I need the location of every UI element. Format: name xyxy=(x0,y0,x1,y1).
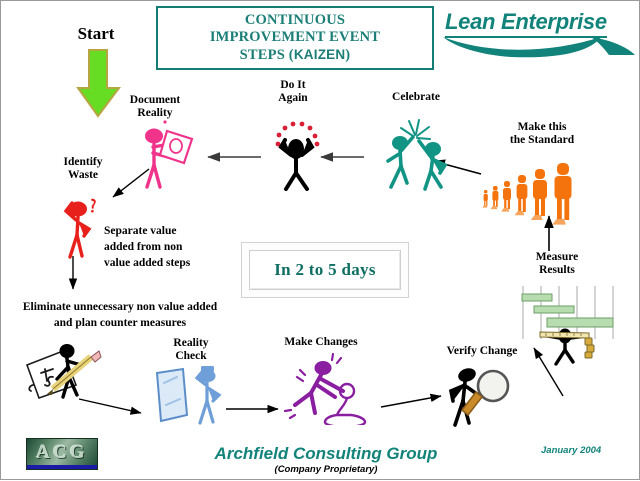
footer-company-name: Archfield Consulting Group xyxy=(171,444,481,464)
figure-person-holding-document xyxy=(137,119,199,191)
label-line-2: Again xyxy=(259,92,327,105)
label-line-1: Document xyxy=(109,94,201,107)
start-label: Start xyxy=(63,27,129,40)
callout-in-2-to-5-days: In 2 to 5 days xyxy=(241,242,409,298)
figure-person-pushing-object xyxy=(281,353,371,425)
title-kaizen: KAIZEN xyxy=(294,47,345,62)
callout-text: In 2 to 5 days xyxy=(274,260,376,280)
callout-inner-frame: In 2 to 5 days xyxy=(249,250,401,290)
step-label-identify-waste: Identify Waste xyxy=(49,156,117,182)
figure-two-people-celebrating xyxy=(379,111,459,193)
step-label-make-changes: Make Changes xyxy=(273,336,369,349)
label-line-2: Results xyxy=(518,264,596,277)
step-label-make-this-standard: Make this the Standard xyxy=(485,121,599,147)
label-line-1: Reality xyxy=(156,337,226,350)
acg-logo-text: ACG xyxy=(36,442,87,464)
step-label-verify-change: Verify Change xyxy=(436,345,528,358)
arrow-plan-to-realitycheck xyxy=(79,399,141,413)
arrow-makechanges-to-verify xyxy=(381,396,441,407)
label-line-1: Do It xyxy=(259,79,327,92)
figure-person-writing-with-pencil xyxy=(19,339,111,401)
label-line-2: Waste xyxy=(49,169,117,182)
footer-proprietary-note: (Company Proprietary) xyxy=(171,464,481,475)
figure-person-thinking xyxy=(53,193,109,259)
step-label-document-reality: Document Reality xyxy=(109,94,201,120)
figure-person-juggling xyxy=(263,111,329,191)
note-line-2: added from non xyxy=(104,239,234,255)
figure-person-with-magnifier xyxy=(441,361,525,429)
acg-logo: ACG xyxy=(26,438,98,470)
note-line-3: value added steps xyxy=(104,255,234,271)
lean-enterprise-logo: Lean Enterprise xyxy=(441,7,637,59)
note-line-2: and plan counter measures xyxy=(3,315,237,331)
label-line-1: Celebrate xyxy=(373,91,459,104)
note-line-1: Separate value xyxy=(104,223,234,239)
label-line-1: Make Changes xyxy=(273,336,369,349)
step-label-measure-results: Measure Results xyxy=(518,251,596,277)
label-line-2: the Standard xyxy=(485,134,599,147)
footer-date: January 2004 xyxy=(541,445,601,456)
step-label-do-it-again: Do It Again xyxy=(259,79,327,105)
title-steps-suffix: ) xyxy=(345,47,350,63)
step-label-celebrate: Celebrate xyxy=(373,91,459,104)
label-line-1: Make this xyxy=(485,121,599,134)
title-line-3: STEPS (KAIZEN) xyxy=(240,46,351,64)
title-line-2: IMPROVEMENT EVENT xyxy=(210,29,380,46)
teal-swoosh-icon xyxy=(441,33,637,59)
note-line-1: Eliminate unnecessary non value added xyxy=(3,299,237,315)
acg-logo-bar xyxy=(27,465,97,469)
note-eliminate-waste: Eliminate unnecessary non value added an… xyxy=(3,299,237,331)
label-line-1: Measure xyxy=(518,251,596,264)
title-line-1: CONTINUOUS xyxy=(245,12,345,29)
label-line-1: Verify Change xyxy=(436,345,528,358)
figure-growing-people-row xyxy=(479,161,589,225)
step-label-reality-check: Reality Check xyxy=(156,337,226,363)
title-steps-prefix: STEPS ( xyxy=(240,47,294,63)
title-box: CONTINUOUS IMPROVEMENT EVENT STEPS (KAIZ… xyxy=(156,6,434,70)
figure-person-with-mirror xyxy=(149,365,231,427)
note-separate-value: Separate value added from non value adde… xyxy=(104,223,234,271)
label-line-1: Identify xyxy=(49,156,117,169)
slide-canvas: CONTINUOUS IMPROVEMENT EVENT STEPS (KAIZ… xyxy=(0,0,640,480)
label-line-2: Check xyxy=(156,350,226,363)
